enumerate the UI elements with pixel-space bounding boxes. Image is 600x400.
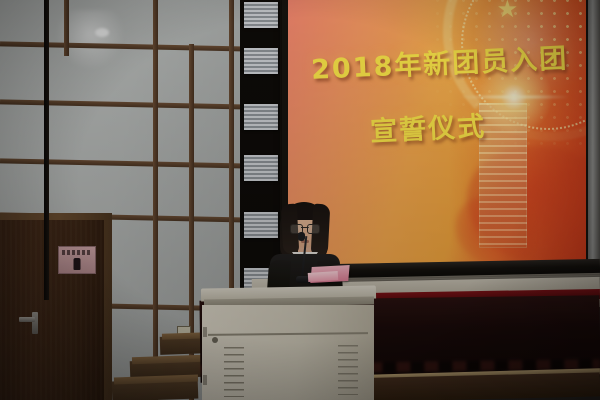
- slide-title-line-2: 宣誓仪式: [369, 104, 487, 148]
- glasses-lens-right: [307, 224, 320, 234]
- wall-batten-horizontal: [0, 158, 252, 168]
- door-handle[interactable]: [19, 317, 35, 322]
- podium-seam: [208, 332, 368, 336]
- door-sign-text: [62, 250, 92, 255]
- podium-vent-right: [338, 345, 358, 395]
- column-vent-strip: [244, 104, 278, 130]
- screen-right-wall-strip: [588, 0, 600, 278]
- door-escutcheon: [32, 312, 38, 334]
- door-sign: [58, 246, 96, 274]
- wall-batten-vertical: [64, 0, 69, 56]
- column-edge: [44, 0, 49, 300]
- wall-batten-vertical: [153, 0, 158, 400]
- wall-batten-horizontal: [0, 99, 252, 109]
- column-vent-strip: [244, 2, 278, 28]
- podium-hinge: [203, 327, 207, 337]
- podium: [201, 287, 376, 400]
- podium-latch[interactable]: [212, 337, 218, 343]
- slide-title-line-1: 2018年新团员入团: [311, 36, 570, 87]
- podium-body: [202, 305, 374, 400]
- glasses-icon: [290, 224, 320, 232]
- person-pictogram-icon: [74, 258, 81, 270]
- auditorium-photo: 2018年新团员入团 宣誓仪式: [0, 0, 600, 400]
- column-vent-strip: [244, 155, 278, 181]
- wall-highlight: [95, 28, 109, 37]
- column-vent-strip: [244, 48, 278, 74]
- wall-batten-horizontal: [0, 41, 252, 51]
- podium-vent-left: [224, 347, 244, 397]
- podium-hinge: [203, 375, 207, 385]
